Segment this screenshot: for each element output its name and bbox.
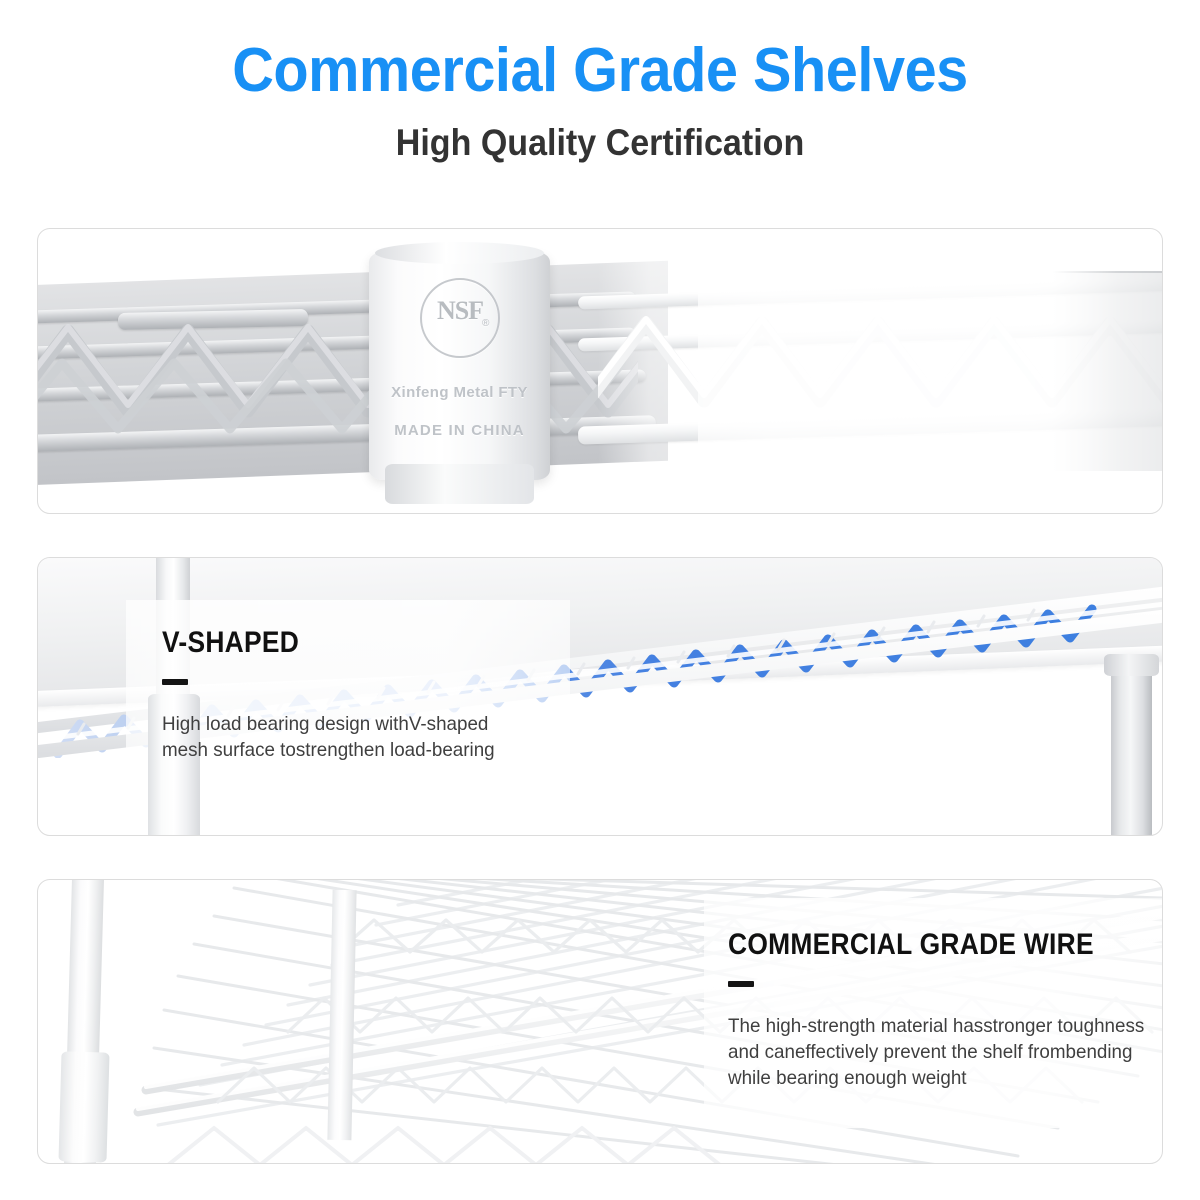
- nsf-product-photo: NSF ® Xinfeng Metal FTY MADE IN CHINA NS…: [38, 229, 1162, 513]
- panel-heading: V-SHAPED: [162, 626, 465, 660]
- body-line: and caneffectively prevent the shelf fro…: [728, 1039, 1144, 1065]
- tapered-lock-collar: NSF ® Xinfeng Metal FTY MADE IN CHINA: [369, 236, 550, 488]
- feature-panel-v-shaped: V-SHAPED High load bearing design withV-…: [37, 557, 1163, 836]
- origin-embossing: MADE IN CHINA: [369, 422, 550, 439]
- page-subtitle: High Quality Certification: [48, 122, 1152, 164]
- feature-panel-nsf: NSF ® Xinfeng Metal FTY MADE IN CHINA NS…: [37, 228, 1163, 514]
- body-line: High load bearing design withV-shaped: [162, 711, 495, 737]
- body-line: while bearing enough weight: [728, 1065, 1144, 1091]
- manufacturer-embossing: Xinfeng Metal FTY: [369, 384, 550, 401]
- text-scrim: [698, 273, 1162, 473]
- commercial-grade-wire-text-block: COMMERCIAL GRADE WIRE The high-strength …: [728, 928, 1159, 1091]
- body-line: mesh surface tostrengthen load-bearing: [162, 737, 495, 763]
- page-header: Commercial Grade Shelves High Quality Ce…: [0, 0, 1200, 164]
- collar-bottom-cap: [385, 464, 534, 504]
- panel-body-text: The high-strength material hasstronger t…: [728, 1013, 1144, 1091]
- heading-divider: [162, 679, 188, 685]
- panel-body-text: High load bearing design withV-shaped me…: [162, 711, 495, 763]
- heading-divider: [728, 981, 754, 987]
- registered-trademark-icon: ®: [482, 318, 489, 329]
- v-shaped-text-block: V-SHAPED High load bearing design withV-…: [162, 626, 507, 763]
- wire-shelf-product-photo: COMMERCIAL GRADE WIRE The high-strength …: [38, 880, 1162, 1163]
- page-title: Commercial Grade Shelves: [42, 38, 1158, 104]
- panel-heading: COMMERCIAL GRADE WIRE: [728, 928, 1108, 962]
- feature-panel-commercial-grade-wire: COMMERCIAL GRADE WIRE The high-strength …: [37, 879, 1163, 1164]
- shelf-collar-left: [58, 1051, 109, 1162]
- body-line: The high-strength material hasstronger t…: [728, 1013, 1144, 1039]
- v-shaped-product-photo: V-SHAPED High load bearing design withV-…: [38, 558, 1162, 835]
- collar-top-cap: [375, 242, 544, 264]
